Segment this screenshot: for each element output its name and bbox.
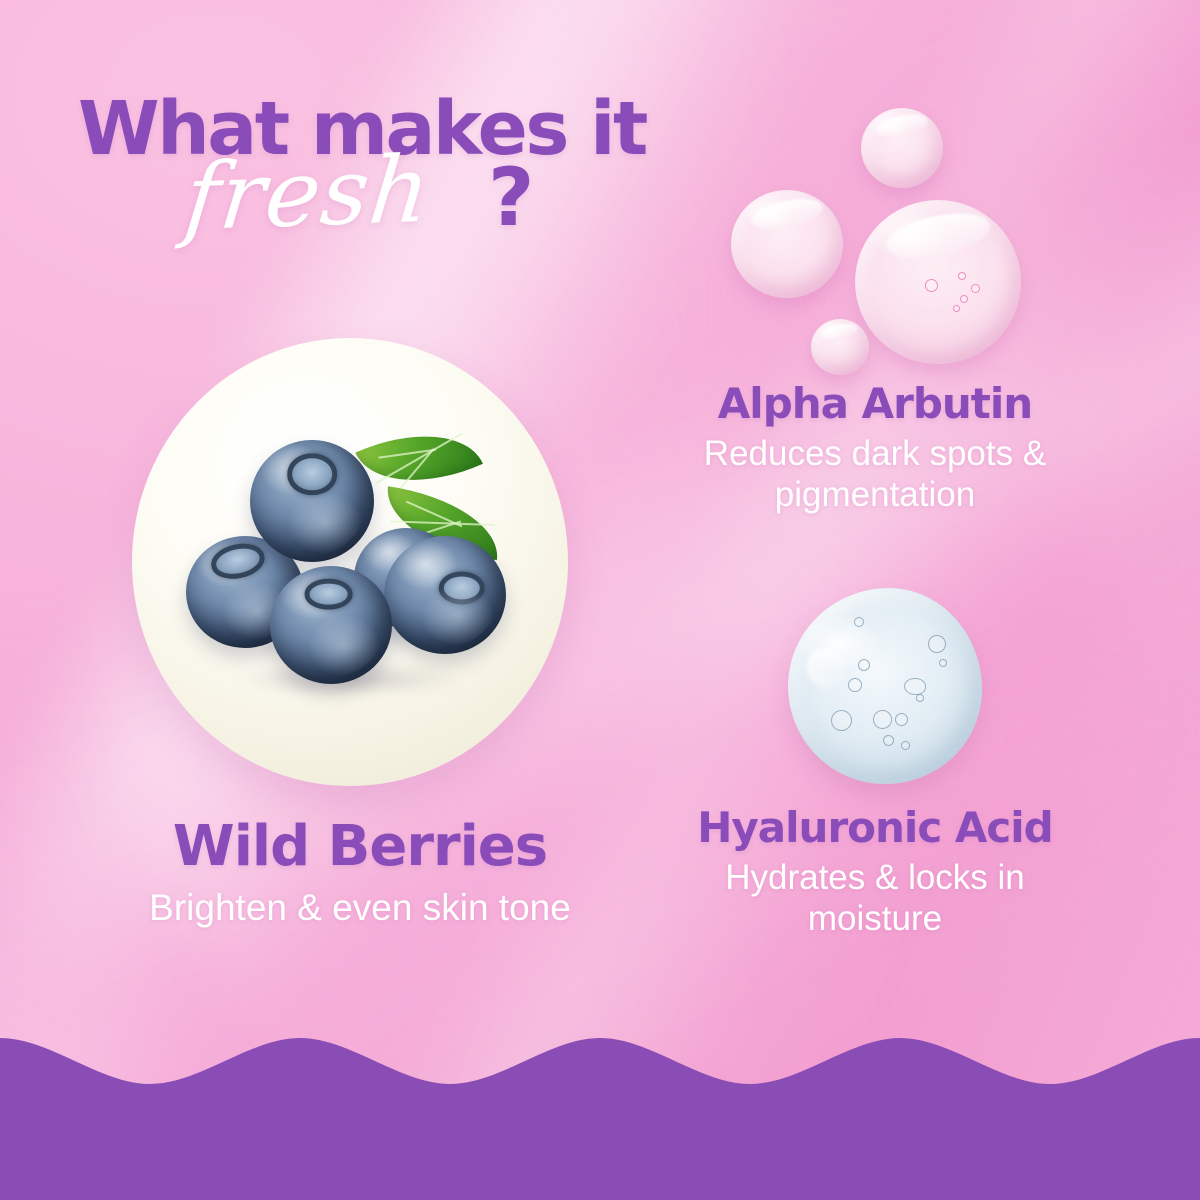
ingredient-description: Reduces dark spots & pigmentation xyxy=(660,434,1090,515)
gel-bubble xyxy=(928,635,946,653)
ingredient-title: Alpha Arbutin xyxy=(660,382,1090,426)
gel-bubble xyxy=(904,678,926,695)
gel-highlight xyxy=(800,640,854,696)
serum-micro-bubble xyxy=(953,305,960,312)
gel-bubble xyxy=(916,694,924,702)
blueberry-cluster xyxy=(132,338,568,786)
serum-droplet-left xyxy=(731,190,843,298)
gel-bubble xyxy=(873,710,892,729)
gel-bubble xyxy=(831,710,852,731)
berry-bloom xyxy=(257,447,366,554)
caption-hyaluronic-acid: Hyaluronic Acid Hydrates & locks in mois… xyxy=(660,806,1090,939)
caption-alpha-arbutin: Alpha Arbutin Reduces dark spots & pigme… xyxy=(660,382,1090,515)
serum-droplet-small-top xyxy=(861,108,943,188)
gel-bubble xyxy=(895,713,908,726)
serum-droplet-large xyxy=(855,200,1021,364)
hyaluronic-gel-blob xyxy=(788,588,982,784)
blueberry xyxy=(270,566,392,684)
berry-bloom xyxy=(391,543,498,647)
gel-bubble xyxy=(901,741,910,750)
serum-micro-bubble xyxy=(960,295,968,303)
blueberry xyxy=(250,440,374,562)
ingredient-title: Wild Berries xyxy=(40,818,680,877)
gel-bubble xyxy=(854,617,864,627)
serum-droplet-tiny xyxy=(811,319,869,375)
wave-front-layer xyxy=(0,1038,1200,1200)
gel-bubble xyxy=(848,678,862,692)
ingredient-infographic-poster: What makes it fresh ? xyxy=(0,0,1200,1200)
wild-berries-image-circle xyxy=(132,338,568,786)
bottom-wave-decoration xyxy=(0,1000,1200,1200)
ingredient-description: Hydrates & locks in moisture xyxy=(660,858,1090,939)
headline-question-mark: ? xyxy=(488,158,534,238)
headline-line-2: fresh ? xyxy=(78,162,698,258)
serum-micro-bubble xyxy=(971,284,980,293)
ingredient-description: Brighten & even skin tone xyxy=(40,887,680,930)
wave-svg xyxy=(0,1000,1200,1200)
serum-micro-bubble xyxy=(925,279,938,292)
blueberry xyxy=(384,536,506,654)
caption-wild-berries: Wild Berries Brighten & even skin tone xyxy=(40,818,680,930)
serum-micro-bubble xyxy=(958,272,966,280)
berry-bloom xyxy=(277,573,384,677)
headline-script-word: fresh xyxy=(181,144,436,244)
gel-bubble xyxy=(883,735,894,746)
headline-block: What makes it fresh ? xyxy=(78,92,698,258)
ingredient-title: Hyaluronic Acid xyxy=(660,806,1090,850)
gel-bubble xyxy=(939,659,947,667)
gel-bubble xyxy=(858,659,870,671)
